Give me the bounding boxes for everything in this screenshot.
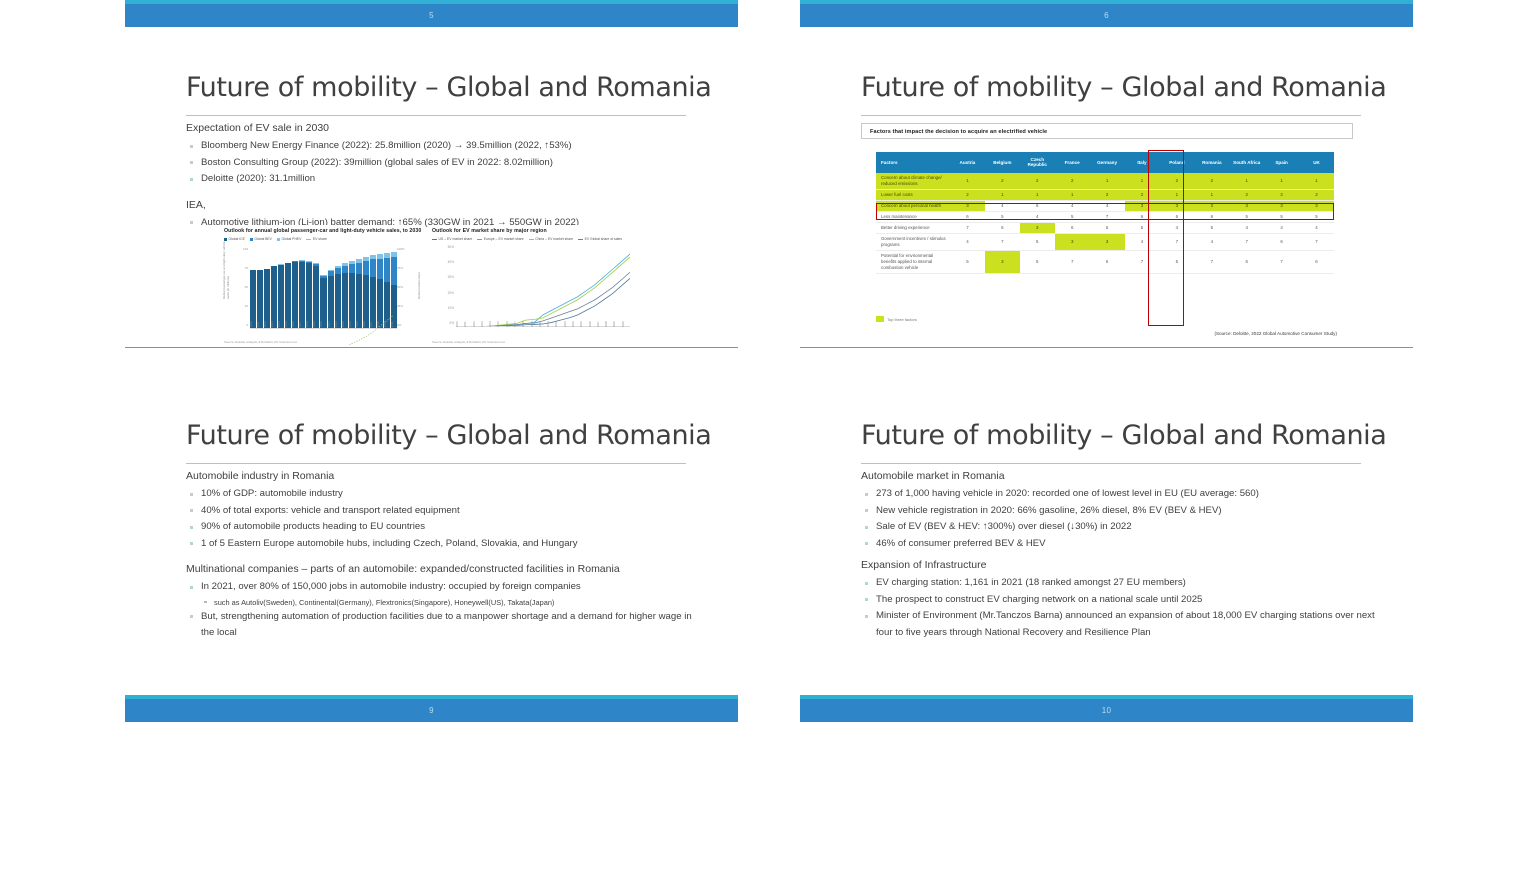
factors-table-body: Concern about climate change/ reduced em… xyxy=(876,173,1334,274)
spacer xyxy=(186,552,706,562)
y2-tick-label: 75% xyxy=(397,266,403,270)
chart-1-y2-ticks: 100%75%50%25%0% xyxy=(397,247,415,327)
x-tick-label: 2012 xyxy=(264,321,270,335)
chart-2-y-ticks: 50%40%30%20%10%0% xyxy=(438,245,454,327)
table-cell: 7 xyxy=(1055,250,1090,273)
table-source: (Source: Deloitte, 2022 Global Automotiv… xyxy=(1214,331,1337,336)
slide-5-title-rule xyxy=(186,115,686,116)
table-cell: 1 xyxy=(1229,173,1264,190)
x-tick-label: 2017 xyxy=(299,321,305,335)
y-tick-label: 50% xyxy=(448,245,454,249)
slide-8-title-rule xyxy=(861,463,1361,464)
slide-5-top-bar: 5 xyxy=(125,0,738,27)
table-cell: 6 xyxy=(1125,211,1160,222)
table-col-header-italy: Italy xyxy=(1125,152,1160,173)
table-row: Concern about climate change/ reduced em… xyxy=(876,173,1334,190)
table-col-header-austria: Austria xyxy=(950,152,985,173)
table-cell: 6 xyxy=(1090,250,1125,273)
table-header-row: FactorsAustriaBelgiumCzech RepublicFranc… xyxy=(876,152,1334,173)
table-row-label: Concern about personal health xyxy=(876,200,950,211)
table-cell: 4 xyxy=(950,233,985,250)
table-cell: 6 xyxy=(1159,211,1194,222)
table-col-header-spain: Spain xyxy=(1264,152,1299,173)
table-cell: 2 xyxy=(950,189,985,200)
table-cell: 1 xyxy=(1194,189,1229,200)
table-cell: 5 xyxy=(1264,211,1299,222)
table-cell: 4 xyxy=(1020,211,1055,222)
legend-label: Global PHEV xyxy=(281,237,301,241)
table-cell: 4 xyxy=(1055,200,1090,211)
y-tick-label: 0 xyxy=(246,323,248,327)
slide-7-bullet-3: 90% of automobile products heading to EU… xyxy=(186,519,706,536)
slide-8-bullet-2: New vehicle registration in 2020: 66% ga… xyxy=(861,503,1381,520)
table-cell: 1 xyxy=(1055,189,1090,200)
x-tick-label: 2030 xyxy=(622,321,630,335)
table-cell: 1 xyxy=(1090,173,1125,190)
x-tick-label: 2017 xyxy=(514,321,522,335)
legend-label-top-three: Top three factors xyxy=(887,317,917,322)
table-cell: 6 xyxy=(1055,222,1090,233)
table-cell: 1 xyxy=(1125,173,1160,190)
legend-item-global-bev: Global BEV xyxy=(250,237,272,241)
table-cell: 5 xyxy=(950,250,985,273)
x-tick-label: 2020 xyxy=(320,321,326,335)
table-row: Less maintenance65457666555 xyxy=(876,211,1334,222)
table-cell: 6 xyxy=(1264,233,1299,250)
table-cell: 7 xyxy=(1264,250,1299,273)
table-cell: 4 xyxy=(1090,200,1125,211)
table-row: Government incentives / stimulus program… xyxy=(876,233,1334,250)
table-cell: 7 xyxy=(985,233,1020,250)
slide-7-bullet-6: But, strengthening automation of product… xyxy=(186,609,706,642)
legend-item-global: EV Global share of sales xyxy=(578,237,622,241)
factors-table-head: FactorsAustriaBelgiumCzech RepublicFranc… xyxy=(876,152,1334,173)
table-row-label: Lower fuel costs xyxy=(876,189,950,200)
chart-1-x-tick-labels: 2010201120122013201420152016201720182019… xyxy=(250,321,397,335)
spacer xyxy=(186,188,706,198)
chart-1-legend: Global ICE Global BEV Global PHEV EV sha… xyxy=(224,237,423,241)
table-cell: 5 xyxy=(985,211,1020,222)
table-row-label: Potential for environmental benefits app… xyxy=(876,250,950,273)
slide-7-subbullet-1: such as Autoliv(Sweden), Continental(Ger… xyxy=(186,596,706,609)
x-tick-label: 2029 xyxy=(384,321,390,335)
table-cell: 2 xyxy=(1020,173,1055,190)
table-cell: 6 xyxy=(950,211,985,222)
y2-tick-label: 50% xyxy=(397,285,403,289)
table-cell: 4 xyxy=(1264,222,1299,233)
legend-label: EV share xyxy=(313,237,327,241)
slide-7-bullet-4: 1 of 5 Eastern Europe automobile hubs, i… xyxy=(186,536,706,553)
slide-5: 5 Future of mobility – Global and Romani… xyxy=(125,0,738,374)
slide-8: Future of mobility – Global and Romania … xyxy=(800,348,1413,722)
table-cell: 2 xyxy=(1194,173,1229,190)
table-cell: 2 xyxy=(1159,173,1194,190)
chart-2-title: Outlook for EV market share by major reg… xyxy=(432,228,640,234)
legend-label: Global BEV xyxy=(254,237,272,241)
slide-6-title: Future of mobility – Global and Romania xyxy=(861,72,1361,103)
slide-5-bullet-1: Bloomberg New Energy Finance (2022): 25.… xyxy=(186,138,706,155)
table-col-header-factors: Factors xyxy=(876,152,950,173)
slide-8-heading-2: Expansion of Infrastructure xyxy=(861,558,1381,573)
table-cell: 7 xyxy=(1299,233,1334,250)
slide-7-bullet-1: 10% of GDP: automobile industry xyxy=(186,486,706,503)
slide-5-title: Future of mobility – Global and Romania xyxy=(186,72,686,103)
slide-9-number: 9 xyxy=(125,706,738,715)
table-cell: 5 xyxy=(1159,250,1194,273)
x-tick-label: 2013 xyxy=(481,321,489,335)
slide-7-bottom-bar: 9 xyxy=(125,695,738,722)
slide-5-heading-1: Expectation of EV sale in 2030 xyxy=(186,121,706,136)
x-tick-label: 2012 xyxy=(473,321,481,335)
slide-8-bullet-5: EV charging station: 1,161 in 2021 (18 r… xyxy=(861,575,1381,592)
slide-10-number: 10 xyxy=(800,706,1413,715)
slide-6-number: 6 xyxy=(800,11,1413,20)
x-tick-label: 2011 xyxy=(257,321,263,335)
slide-7-heading-2: Multinational companies – parts of an au… xyxy=(186,562,706,577)
legend-item-china: China – EV market share xyxy=(529,237,573,241)
slide-8-bottom-bar: 10 xyxy=(800,695,1413,722)
x-tick-label: 2014 xyxy=(278,321,284,335)
slide-6: 6 Future of mobility – Global and Romani… xyxy=(800,0,1413,374)
slide-8-heading-1: Automobile market in Romania xyxy=(861,469,1381,484)
x-tick-label: 2026 xyxy=(589,321,597,335)
table-cell: 5 xyxy=(1020,233,1055,250)
slide-8-body: Automobile market in Romania 273 of 1,00… xyxy=(861,469,1381,641)
table-cell: 3 xyxy=(1229,200,1264,211)
y-tick-label: 75 xyxy=(245,266,248,270)
chart-1-y2-axis-label: Global market share xyxy=(417,247,421,299)
slide-8-title: Future of mobility – Global and Romania xyxy=(861,420,1361,451)
x-tick-label: 2021 xyxy=(328,321,334,335)
slide-7-body: Automobile industry in Romania 10% of GD… xyxy=(186,469,706,642)
table-cell: 3 xyxy=(1055,233,1090,250)
legend-label: Europe – EV market share xyxy=(484,237,524,241)
chart-1-y-axis-label: Global passenger-car and light-duty vehi… xyxy=(222,239,230,299)
y2-tick-label: 100% xyxy=(397,247,405,251)
y-tick-label: 30% xyxy=(448,275,454,279)
table-cell: 7 xyxy=(1229,233,1264,250)
table-row: Better driving experience76365545444 xyxy=(876,222,1334,233)
slide-5-bullet-2: Boston Consulting Group (2022): 39millio… xyxy=(186,155,706,172)
table-cell: 3 xyxy=(950,200,985,211)
table-cell: 3 xyxy=(1090,233,1125,250)
table-cell: 1 xyxy=(1264,173,1299,190)
slide-7-bullet-2: 40% of total exports: vehicle and transp… xyxy=(186,503,706,520)
x-tick-label: 2019 xyxy=(313,321,319,335)
table-cell: 7 xyxy=(1125,250,1160,273)
legend-item-ev-share: EV share xyxy=(306,237,326,241)
x-tick-label: 2011 xyxy=(464,321,472,335)
table-cell: 3 xyxy=(1159,200,1194,211)
table-cell: 2 xyxy=(1299,189,1334,200)
table-row-label: Less maintenance xyxy=(876,211,950,222)
slide-5-body: Expectation of EV sale in 2030 Bloomberg… xyxy=(186,121,706,231)
table-cell: 5 xyxy=(1229,211,1264,222)
chart-1-title: Outlook for annual global passenger-car … xyxy=(224,228,423,234)
table-cell: 3 xyxy=(1125,200,1160,211)
table-cell: 2 xyxy=(1229,189,1264,200)
x-tick-label: 2025 xyxy=(356,321,362,335)
table-row-label: Government incentives / stimulus program… xyxy=(876,233,950,250)
x-tick-label: 2023 xyxy=(564,321,572,335)
x-tick-label: 2025 xyxy=(580,321,588,335)
chart-1-source: Source: Deloitte analysis; IHS Markit, E… xyxy=(224,340,297,344)
table-col-header-poland: Poland xyxy=(1159,152,1194,173)
table-cell: 4 xyxy=(1125,233,1160,250)
table-col-header-france: France xyxy=(1055,152,1090,173)
table-cell: 6 xyxy=(1299,250,1334,273)
y-tick-label: 0% xyxy=(449,321,454,325)
slide-7-title-rule xyxy=(186,463,686,464)
table-col-header-germany: Germany xyxy=(1090,152,1125,173)
legend-label: US – EV market share xyxy=(439,237,473,241)
legend-label: Global ICE xyxy=(229,237,245,241)
y-tick-label: 100 xyxy=(243,247,248,251)
chart-1-y-ticks: 1007550250 xyxy=(234,247,248,327)
chart-1-plot xyxy=(250,251,397,329)
slide-8-bullet-6: The prospect to construct EV charging ne… xyxy=(861,592,1381,609)
table-row-label: Concern about climate change/ reduced em… xyxy=(876,173,950,190)
y-tick-label: 25 xyxy=(245,304,248,308)
slide-8-bullet-7: Minister of Environment (Mr.Tanczos Barn… xyxy=(861,608,1381,641)
x-tick-label: 2018 xyxy=(306,321,312,335)
x-tick-label: 2015 xyxy=(497,321,505,335)
table-cell: 7 xyxy=(1090,211,1125,222)
slide-5-bullet-3: Deloitte (2020): 31.1million xyxy=(186,171,706,188)
slide-handout-sheet: 5 Future of mobility – Global and Romani… xyxy=(0,0,1534,871)
table-cell: 1 xyxy=(1159,189,1194,200)
table-cell: 2 xyxy=(985,173,1020,190)
x-tick-label: 2026 xyxy=(363,321,369,335)
slide-5-figures: Outlook for annual global passenger-car … xyxy=(220,225,640,347)
table-cell: 3 xyxy=(1264,200,1299,211)
table-legend: Top three factors xyxy=(876,316,917,322)
table-cell: 1 xyxy=(985,189,1020,200)
y-tick-label: 50 xyxy=(245,285,248,289)
x-tick-label: 2024 xyxy=(349,321,355,335)
chart-2-plot xyxy=(456,251,630,327)
table-cell: 7 xyxy=(950,222,985,233)
table-cell: 5 xyxy=(1125,222,1160,233)
table-cell: 4 xyxy=(1194,233,1229,250)
slide-5-heading-2: IEA, xyxy=(186,198,706,213)
table-row: Concern about personal health34644333333 xyxy=(876,200,1334,211)
table-row-label: Better driving experience xyxy=(876,222,950,233)
table-cell: 5 xyxy=(1055,211,1090,222)
y-tick-label: 40% xyxy=(448,260,454,264)
slide-7-bullet-5: In 2021, over 80% of 150,000 jobs in aut… xyxy=(186,579,706,596)
chart-global-vehicle-sales: Outlook for annual global passenger-car … xyxy=(220,225,423,345)
chart-ev-market-share-by-region: Outlook for EV market share by major reg… xyxy=(428,225,640,345)
legend-item-europe: Europe – EV market share xyxy=(477,237,523,241)
y-tick-label: 10% xyxy=(448,306,454,310)
x-tick-label: 2019 xyxy=(531,321,539,335)
x-tick-label: 2022 xyxy=(335,321,341,335)
slide-6-top-bar: 6 xyxy=(800,0,1413,27)
table-cell: 5 xyxy=(1020,250,1055,273)
table-cell: 1 xyxy=(1299,173,1334,190)
x-tick-label: 2015 xyxy=(285,321,291,335)
slide-7: Future of mobility – Global and Romania … xyxy=(125,348,738,722)
table-cell: 2 xyxy=(1055,173,1090,190)
slide-7-heading-1: Automobile industry in Romania xyxy=(186,469,706,484)
table-cell: 3 xyxy=(1020,222,1055,233)
y-tick-label: 20% xyxy=(448,291,454,295)
x-tick-label: 2016 xyxy=(292,321,298,335)
legend-label: China – EV market share xyxy=(535,237,573,241)
table-caption: Factors that impact the decision to acqu… xyxy=(861,123,1353,139)
x-tick-label: 2018 xyxy=(522,321,530,335)
x-tick-label: 2028 xyxy=(377,321,383,335)
table-cell: 2 xyxy=(1125,189,1160,200)
slide-6-title-rule xyxy=(861,115,1361,116)
table-cell: 3 xyxy=(1194,200,1229,211)
table-cell: 4 xyxy=(1159,222,1194,233)
slide-7-title: Future of mobility – Global and Romania xyxy=(186,420,686,451)
table-cell: 1 xyxy=(1020,189,1055,200)
table-col-header-czech-republic: Czech Republic xyxy=(1020,152,1055,173)
x-tick-label: 2022 xyxy=(555,321,563,335)
x-tick-label: 2029 xyxy=(613,321,621,335)
table-cell: 6 xyxy=(1229,250,1264,273)
table-cell: 4 xyxy=(1229,222,1264,233)
slide-8-bullet-3: Sale of EV (BEV & HEV: ↑300%) over diese… xyxy=(861,519,1381,536)
table-cell: 2 xyxy=(1090,189,1125,200)
x-tick-label: 2010 xyxy=(250,321,256,335)
table-row: Potential for environmental benefits app… xyxy=(876,250,1334,273)
table-cell: 7 xyxy=(1159,233,1194,250)
x-tick-label: 2023 xyxy=(342,321,348,335)
table-cell: 4 xyxy=(1299,222,1334,233)
y2-tick-label: 25% xyxy=(397,304,403,308)
table-cell: 5 xyxy=(1090,222,1125,233)
y2-tick-label: 0% xyxy=(397,323,401,327)
table-cell: 3 xyxy=(985,250,1020,273)
table-cell: 5 xyxy=(1194,222,1229,233)
table-col-header-romania: Romania xyxy=(1194,152,1229,173)
table-cell: 3 xyxy=(1299,200,1334,211)
x-tick-label: 2027 xyxy=(370,321,376,335)
slide-8-bullet-4: 46% of consumer preferred BEV & HEV xyxy=(861,536,1381,553)
x-tick-label: 2024 xyxy=(572,321,580,335)
chart-2-x-tick-labels: 2010201120122013201420152016201720182019… xyxy=(456,321,630,335)
factors-table: FactorsAustriaBelgiumCzech RepublicFranc… xyxy=(876,152,1334,274)
x-tick-label: 2013 xyxy=(271,321,277,335)
legend-swatch-top-three xyxy=(876,316,884,322)
legend-item-us: US – EV market share xyxy=(432,237,472,241)
x-tick-label: 2030 xyxy=(391,321,397,335)
table-cell: 2 xyxy=(1264,189,1299,200)
table-row: Lower fuel costs21112211222 xyxy=(876,189,1334,200)
slide-8-bullet-1: 273 of 1,000 having vehicle in 2020: rec… xyxy=(861,486,1381,503)
chart-2-source: Source: Deloitte analysis; IHS Markit, E… xyxy=(432,340,505,344)
table-cell: 4 xyxy=(985,200,1020,211)
table-col-header-uk: UK xyxy=(1299,152,1334,173)
table-cell: 1 xyxy=(950,173,985,190)
x-tick-label: 2016 xyxy=(506,321,514,335)
x-tick-label: 2027 xyxy=(597,321,605,335)
slide-5-number: 5 xyxy=(125,11,738,20)
chart-2-lines xyxy=(456,251,630,327)
table-cell: 6 xyxy=(985,222,1020,233)
table-col-header-belgium: Belgium xyxy=(985,152,1020,173)
legend-item-global-phev: Global PHEV xyxy=(277,237,301,241)
table-cell: 5 xyxy=(1299,211,1334,222)
legend-label: EV Global share of sales xyxy=(585,237,622,241)
x-tick-label: 2020 xyxy=(539,321,547,335)
chart-2-legend: US – EV market share Europe – EV market … xyxy=(432,237,640,241)
table-col-header-south-africa: South Africa xyxy=(1229,152,1264,173)
table-cell: 6 xyxy=(1020,200,1055,211)
table-cell: 6 xyxy=(1194,211,1229,222)
table-cell: 7 xyxy=(1194,250,1229,273)
